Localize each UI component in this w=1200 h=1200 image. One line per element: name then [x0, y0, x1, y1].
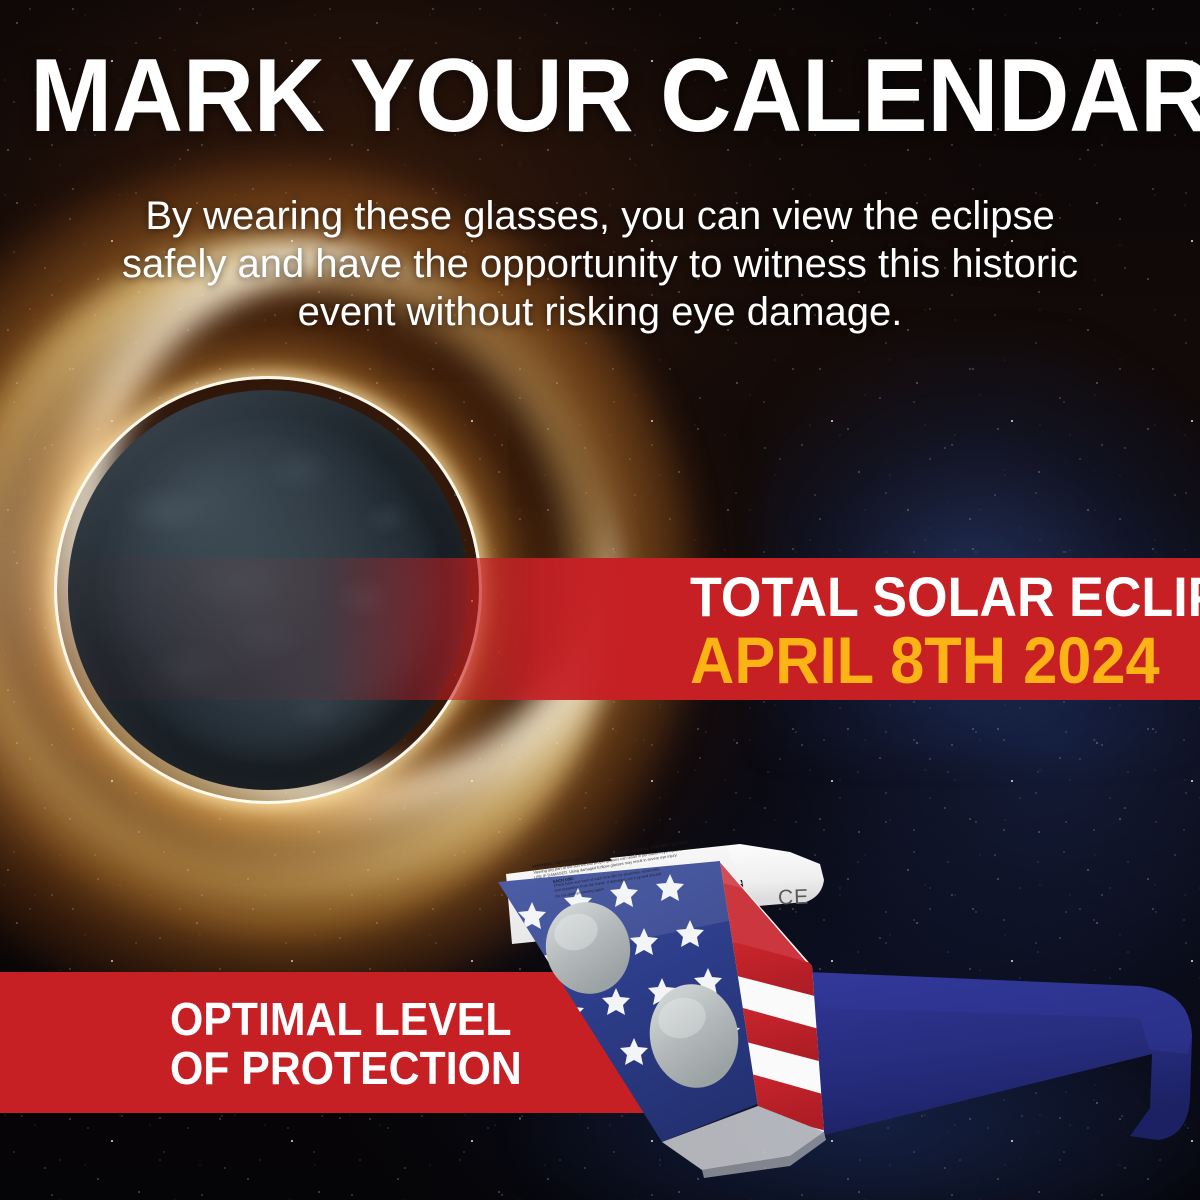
protection-line-2: OF PROTECTION — [170, 1044, 522, 1093]
eclipse-glasses: WARNING: NEVER LOOK AT THE SUN WITHOUT S… — [490, 840, 1200, 1200]
eclipse-date-value: APRIL 8TH 2024 — [690, 627, 1200, 694]
ce-mark-icon: CE — [778, 885, 810, 910]
eclipse-promo-poster: MARK YOUR CALENDAR By wearing these glas… — [0, 0, 1200, 1200]
protection-line-1: OPTIMAL LEVEL — [170, 995, 522, 1044]
eclipse-date-text: TOTAL SOLAR ECLIPSE APRIL 8TH 2024 — [690, 568, 1200, 694]
page-title: MARK YOUR CALENDAR — [30, 44, 1170, 148]
page-subtitle: By wearing these glasses, you can view t… — [100, 192, 1100, 336]
eclipse-event-label: TOTAL SOLAR ECLIPSE — [690, 568, 1200, 625]
